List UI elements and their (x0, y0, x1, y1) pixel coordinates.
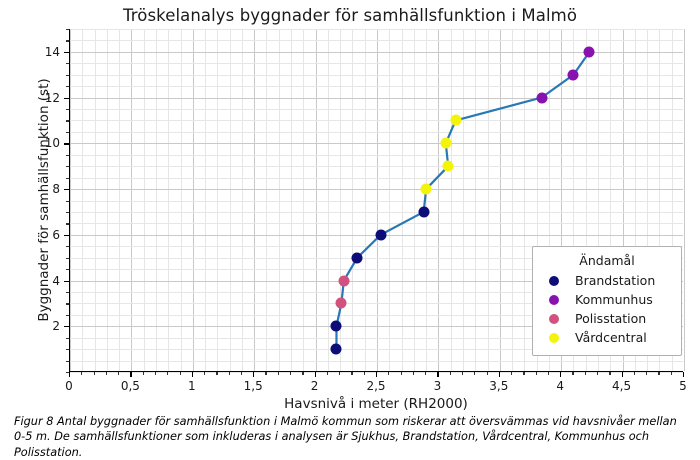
data-point (375, 229, 386, 240)
data-point (536, 92, 547, 103)
x-tick (180, 372, 181, 375)
y-tick (66, 86, 69, 87)
x-tick (560, 372, 561, 377)
figure-caption: Figur 8 Antal byggnader för samhällsfunk… (14, 414, 690, 460)
x-tick (278, 372, 279, 375)
x-tick (462, 372, 463, 375)
page-title: Tröskelanalys byggnader för samhällsfunk… (0, 6, 700, 25)
x-tick (413, 372, 414, 375)
x-tick-label: 3 (434, 379, 442, 393)
data-point (568, 69, 579, 80)
legend-title: Ändamål (542, 253, 672, 268)
legend-item-label: Polisstation (575, 311, 646, 326)
y-tick (64, 143, 69, 144)
x-tick (241, 372, 242, 375)
data-point (352, 252, 363, 263)
data-point (336, 298, 347, 309)
data-point (331, 344, 342, 355)
x-tick (487, 372, 488, 375)
x-tick-label: 5 (679, 379, 687, 393)
y-tick (64, 235, 69, 236)
x-tick (499, 372, 500, 377)
x-tick-label: 0 (65, 379, 73, 393)
x-tick (130, 372, 131, 377)
x-tick (597, 372, 598, 375)
y-tick (66, 75, 69, 76)
x-tick-label: 2 (311, 379, 319, 393)
x-tick (143, 372, 144, 375)
x-tick (425, 372, 426, 375)
y-tick (66, 155, 69, 156)
y-tick (66, 166, 69, 167)
x-tick (683, 372, 684, 377)
x-tick (253, 372, 254, 377)
data-point (418, 206, 429, 217)
y-tick (66, 269, 69, 270)
data-point (338, 275, 349, 286)
x-tick (204, 372, 205, 375)
x-tick (167, 372, 168, 375)
legend-item-brandstation[interactable]: Brandstation (542, 271, 672, 290)
x-axis-label: Havsnivå i meter (RH2000) (69, 396, 683, 412)
y-tick (66, 40, 69, 41)
legend-swatch-icon (549, 276, 559, 286)
x-tick (511, 372, 512, 375)
y-tick (66, 372, 69, 373)
x-tick (548, 372, 549, 375)
y-tick (64, 52, 69, 53)
x-tick (94, 372, 95, 375)
figure-container: Tröskelanalys byggnader för samhällsfunk… (0, 0, 700, 459)
x-tick (388, 372, 389, 375)
y-tick (66, 29, 69, 30)
legend-item-kommunhus[interactable]: Kommunhus (542, 290, 672, 309)
x-tick-label: 4 (556, 379, 564, 393)
x-tick (192, 372, 193, 377)
y-tick (66, 349, 69, 350)
x-tick (265, 372, 266, 375)
y-tick (64, 281, 69, 282)
y-tick (64, 326, 69, 327)
x-tick-label: 4,5 (612, 379, 631, 393)
x-tick (351, 372, 352, 375)
x-tick (364, 372, 365, 375)
x-tick (401, 372, 402, 375)
y-axis-label: Byggnader för samhällsfunktion (st) (36, 40, 52, 360)
x-tick (658, 372, 659, 375)
x-tick (609, 372, 610, 375)
y-tick (66, 63, 69, 64)
x-tick (302, 372, 303, 375)
y-tick (66, 120, 69, 121)
legend-item-polisstation[interactable]: Polisstation (542, 309, 672, 328)
y-tick (66, 212, 69, 213)
legend-item-label: Vårdcentral (575, 330, 647, 345)
x-tick (474, 372, 475, 375)
data-point (421, 184, 432, 195)
data-point (584, 46, 595, 57)
x-tick (646, 372, 647, 375)
y-tick (66, 315, 69, 316)
legend-swatch-icon (549, 333, 559, 343)
x-tick-label: 3,5 (489, 379, 508, 393)
y-tick (66, 132, 69, 133)
x-tick (155, 372, 156, 375)
x-tick (216, 372, 217, 375)
data-point (450, 115, 461, 126)
x-tick (634, 372, 635, 375)
x-tick-label: 1 (188, 379, 196, 393)
x-tick (523, 372, 524, 375)
x-tick (671, 372, 672, 375)
y-tick (66, 223, 69, 224)
y-tick (64, 98, 69, 99)
x-tick (81, 372, 82, 375)
legend-swatch-icon (549, 314, 559, 324)
x-tick (622, 372, 623, 377)
x-tick (315, 372, 316, 377)
x-tick (339, 372, 340, 375)
y-tick (66, 303, 69, 304)
y-tick (66, 292, 69, 293)
x-tick (572, 372, 573, 375)
y-tick (66, 201, 69, 202)
x-tick (327, 372, 328, 375)
y-tick (64, 189, 69, 190)
x-tick (536, 372, 537, 375)
x-tick-label: 0,5 (121, 379, 140, 393)
y-tick (66, 109, 69, 110)
x-tick-label: 1,5 (244, 379, 263, 393)
legend: Ändamål BrandstationKommunhusPolisstatio… (532, 246, 682, 356)
y-tick (66, 338, 69, 339)
x-tick (290, 372, 291, 375)
x-tick (450, 372, 451, 375)
data-point (440, 138, 451, 149)
x-tick (437, 372, 438, 377)
data-point (443, 161, 454, 172)
x-tick-label: 2,5 (366, 379, 385, 393)
y-tick (66, 246, 69, 247)
x-tick (106, 372, 107, 375)
legend-item-label: Kommunhus (575, 292, 653, 307)
x-tick (585, 372, 586, 375)
x-tick (118, 372, 119, 375)
legend-swatch-icon (549, 295, 559, 305)
x-tick (69, 372, 70, 377)
y-tick (66, 258, 69, 259)
data-point (331, 321, 342, 332)
x-tick (376, 372, 377, 377)
x-tick (229, 372, 230, 375)
legend-item-label: Brandstation (575, 273, 655, 288)
legend-item-vårdcentral[interactable]: Vårdcentral (542, 328, 672, 347)
y-tick (66, 361, 69, 362)
y-tick (66, 178, 69, 179)
